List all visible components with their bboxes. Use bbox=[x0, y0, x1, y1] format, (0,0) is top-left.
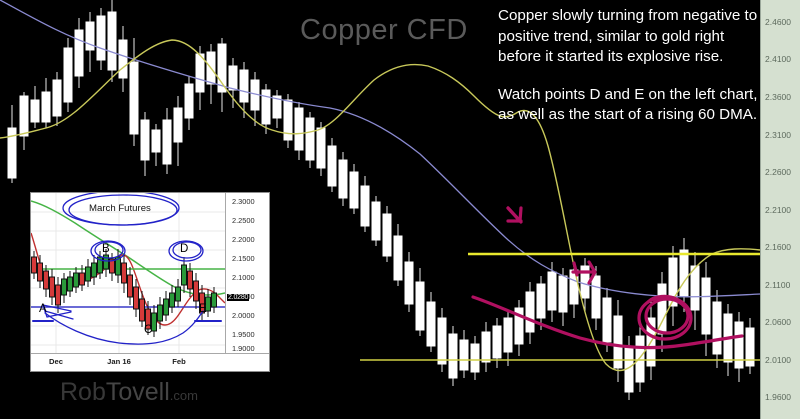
inset-xaxis-label: Feb bbox=[172, 357, 186, 366]
watermark-suffix: .com bbox=[170, 388, 198, 403]
inset-time-axis[interactable]: Dec Jan 16 Feb bbox=[31, 353, 269, 372]
inset-axis-tick: 2.1500 bbox=[232, 254, 255, 263]
watermark: RobTovell.com bbox=[60, 378, 198, 407]
watermark-part2: Tovell bbox=[106, 378, 170, 406]
inset-axis-tick: 2.3000 bbox=[232, 197, 255, 206]
axis-tick-label: 2.4100 bbox=[765, 54, 791, 64]
axis-tick-label: 2.0100 bbox=[765, 355, 791, 365]
inset-axis-tick: 2.2000 bbox=[232, 235, 255, 244]
inset-xaxis-label: Dec bbox=[49, 357, 63, 366]
inset-march-futures-chart[interactable]: March Futures A B C D E 2.3000 2.2500 2.… bbox=[30, 192, 270, 372]
inset-axis-tick: 1.9000 bbox=[232, 344, 255, 353]
inset-axis-tick: 2.0000 bbox=[232, 311, 255, 320]
watermark-part1: Rob bbox=[60, 378, 106, 406]
inset-axis-tick: 2.1000 bbox=[232, 273, 255, 282]
axis-tick-label: 2.2100 bbox=[765, 205, 791, 215]
screenshot-root: Copper CFD Copper slowly turning from ne… bbox=[0, 0, 800, 419]
inset-axis-tick: 1.9500 bbox=[232, 330, 255, 339]
inset-point-e: E bbox=[199, 303, 207, 315]
inset-point-d: D bbox=[180, 243, 188, 255]
price-axis-panel[interactable]: 2.4600 2.4100 2.3600 2.3100 2.2600 2.210… bbox=[760, 0, 800, 419]
axis-tick-label: 2.3100 bbox=[765, 130, 791, 140]
inset-price-axis[interactable]: 2.3000 2.2500 2.2000 2.1500 2.1000 2.050… bbox=[225, 193, 270, 353]
inset-xaxis-label: Jan 16 bbox=[107, 357, 131, 366]
axis-tick-label: 2.2600 bbox=[765, 167, 791, 177]
inset-point-a: A bbox=[39, 303, 47, 315]
axis-tick-label: 2.4600 bbox=[765, 17, 791, 27]
page-title: Copper CFD bbox=[300, 14, 468, 47]
axis-tick-label: 2.3600 bbox=[765, 92, 791, 102]
annotation-paragraph-1: Copper slowly turning from negative to p… bbox=[498, 6, 760, 68]
inset-point-b: B bbox=[102, 243, 110, 255]
inset-axis-tick: 2.2500 bbox=[232, 216, 255, 225]
inset-last-price-tag: 2.0280 bbox=[227, 294, 249, 301]
annotation-text-block: Copper slowly turning from negative to p… bbox=[498, 6, 760, 143]
axis-tick-label: 2.1600 bbox=[765, 242, 791, 252]
axis-tick-label: 2.0600 bbox=[765, 317, 791, 327]
inset-chart-title: March Futures bbox=[89, 203, 151, 214]
inset-chart-canvas bbox=[31, 193, 225, 353]
annotation-paragraph-2: Watch points D and E on the left chart, … bbox=[498, 85, 760, 126]
inset-point-c: C bbox=[144, 324, 152, 336]
inset-plot-area: March Futures A B C D E bbox=[31, 193, 225, 353]
axis-tick-label: 2.1100 bbox=[765, 280, 790, 290]
axis-tick-label: 1.9600 bbox=[765, 392, 791, 402]
